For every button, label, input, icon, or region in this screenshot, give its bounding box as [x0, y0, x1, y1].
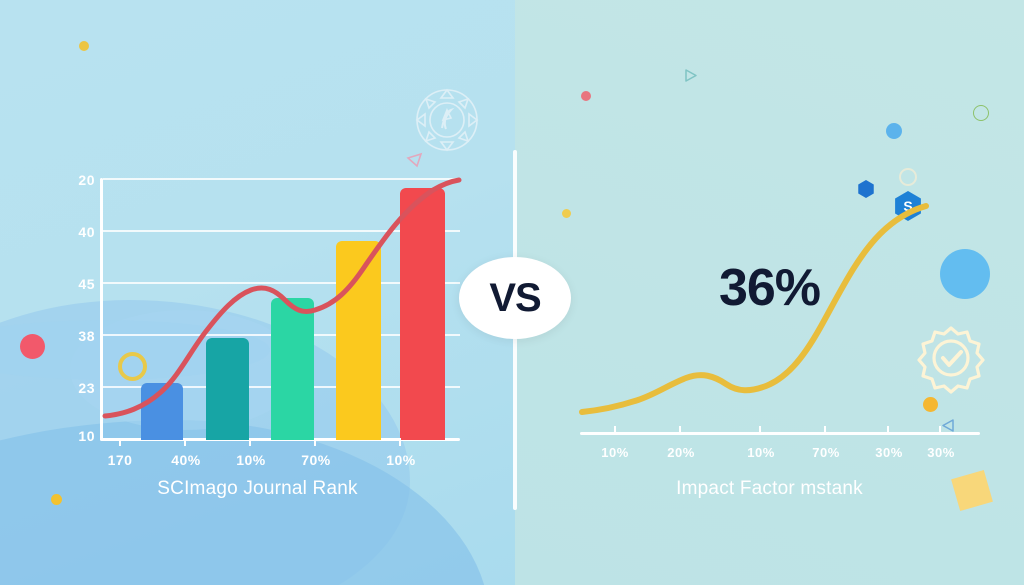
- right-chart-caption: Impact Factor mstank: [515, 478, 1024, 500]
- trend-line-red: [103, 178, 460, 440]
- bar-group: [103, 178, 460, 440]
- x-tick-mark: [399, 438, 401, 446]
- infographic-canvas: 20 40 45 38 23 10: [0, 0, 1024, 585]
- y-tick-label: 10: [35, 428, 95, 444]
- x-tick-mark: [184, 438, 186, 446]
- faint-ring: [899, 168, 917, 186]
- pink-triangle-outline-icon: [406, 152, 424, 168]
- right-panel: S 36%: [515, 0, 1024, 585]
- y-tick-label: 40: [35, 224, 95, 240]
- left-chart-caption: SCImago Journal Rank: [0, 478, 515, 500]
- teal-triangle-outline-icon: [683, 68, 699, 83]
- right-x-tick-mark: [824, 426, 826, 433]
- x-tick-mark: [119, 438, 121, 446]
- right-x-tick-label: 30%: [875, 445, 903, 460]
- right-x-axis: [580, 432, 980, 435]
- left-bg-wave-2: [0, 420, 490, 585]
- scimago-bar-chart: 20 40 45 38 23 10: [60, 170, 460, 440]
- y-tick-label: 23: [35, 380, 95, 396]
- y-tick-label: 45: [35, 276, 95, 292]
- right-x-tick-mark: [759, 426, 761, 433]
- x-tick-label: 170: [108, 452, 133, 468]
- x-tick-mark: [249, 438, 251, 446]
- x-tick-label: 70%: [301, 452, 331, 468]
- right-x-tick-mark: [887, 426, 889, 433]
- x-tick-label: 10%: [236, 452, 266, 468]
- right-x-tick-label: 30%: [927, 445, 955, 460]
- right-x-tick-label: 10%: [747, 445, 775, 460]
- blue-dot-small: [886, 123, 902, 139]
- right-x-tick-mark: [939, 426, 941, 433]
- impact-factor-line-chart: 10% 20% 10% 70% 30% 30%: [570, 200, 990, 445]
- yellow-dot-top: [79, 41, 89, 51]
- red-dot: [581, 91, 591, 101]
- blue-hexagon-small-icon: [857, 180, 875, 198]
- right-x-tick-mark: [679, 426, 681, 433]
- network-badge-icon: [409, 82, 485, 158]
- trend-line-yellow: [580, 200, 980, 432]
- left-panel: 20 40 45 38 23 10: [0, 0, 515, 585]
- y-tick-label: 20: [35, 172, 95, 188]
- green-ring: [973, 105, 989, 121]
- right-x-tick-label: 10%: [601, 445, 629, 460]
- vs-badge: VS: [459, 257, 571, 339]
- right-x-tick-label: 20%: [667, 445, 695, 460]
- x-tick-label: 10%: [386, 452, 416, 468]
- x-tick-label: 40%: [171, 452, 201, 468]
- y-tick-label: 38: [35, 328, 95, 344]
- x-tick-mark: [314, 438, 316, 446]
- vs-badge-label: VS: [489, 278, 540, 318]
- right-x-tick-label: 70%: [812, 445, 840, 460]
- right-x-tick-mark: [614, 426, 616, 433]
